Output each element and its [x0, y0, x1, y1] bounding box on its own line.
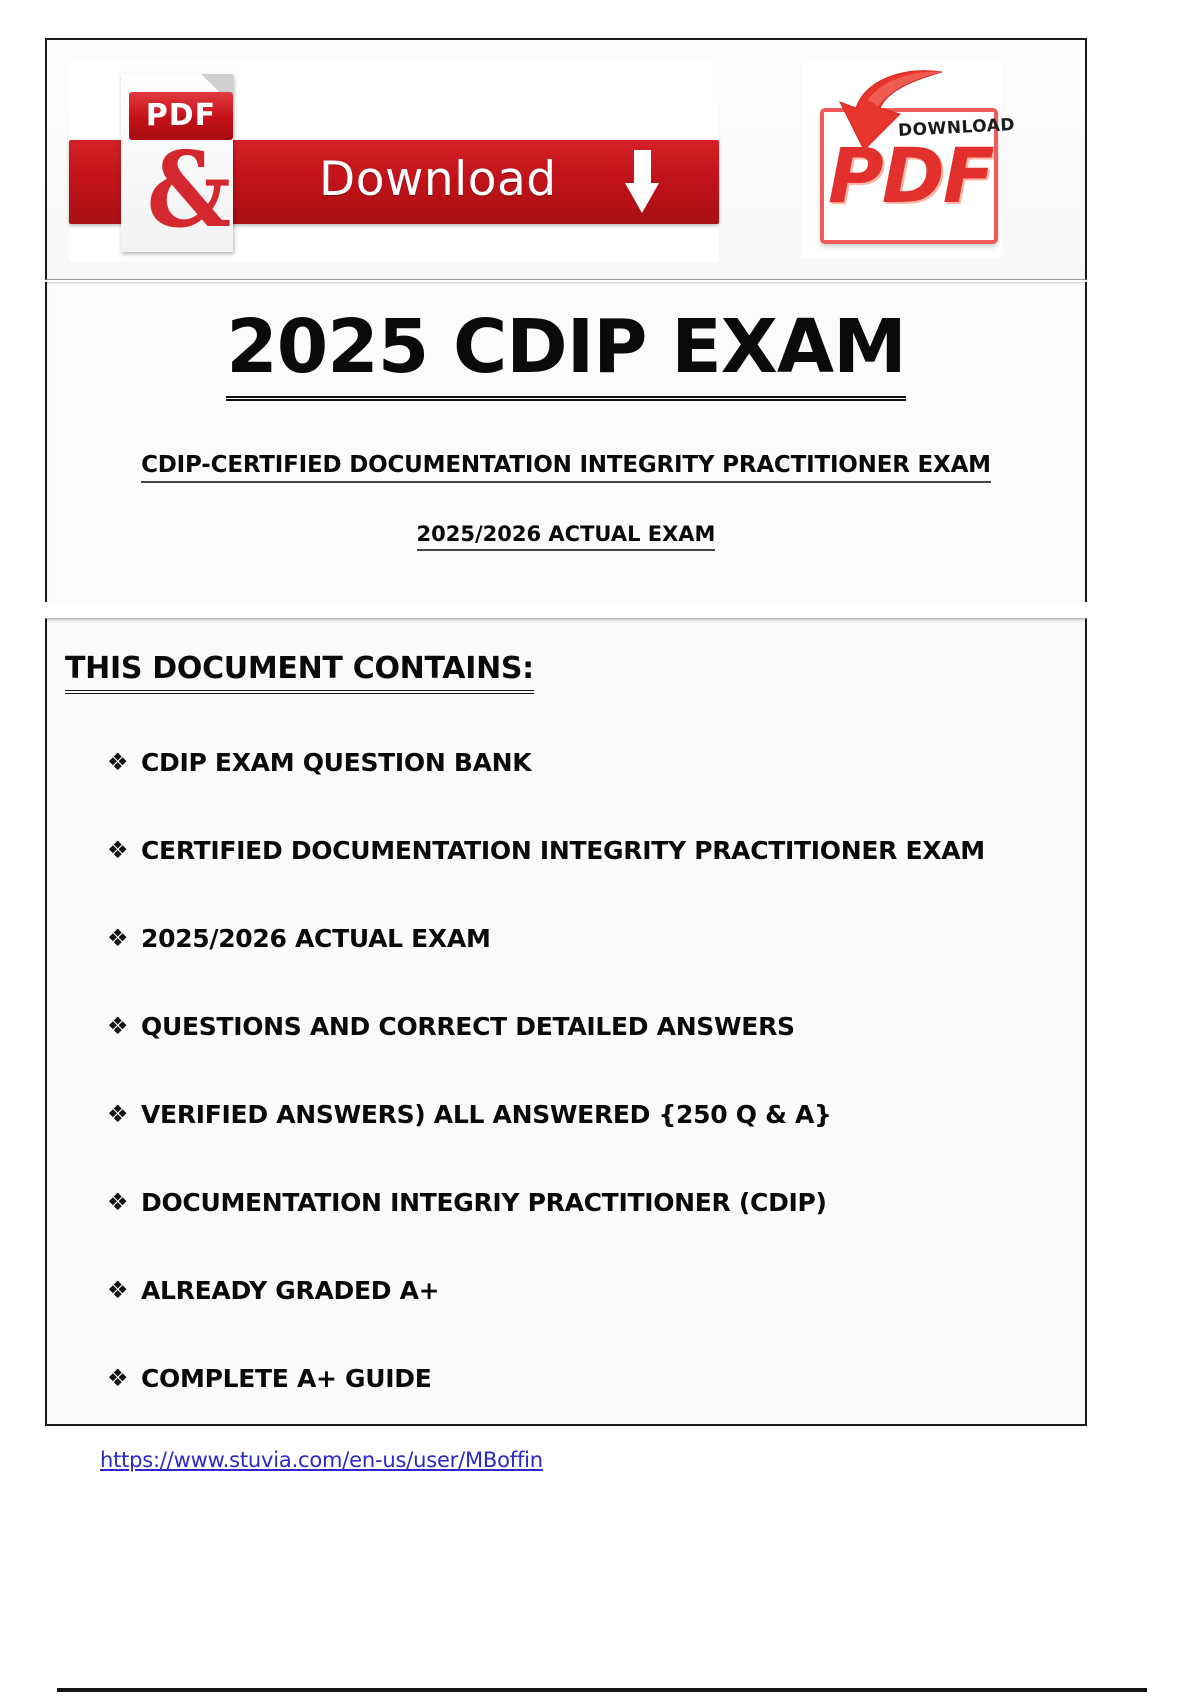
list-item-label: QUESTIONS AND CORRECT DETAILED ANSWERS: [141, 1013, 795, 1040]
list-item: ❖ 2025/2026 ACTUAL EXAM: [107, 925, 1071, 1013]
diamond-bullet-icon: ❖: [107, 1365, 141, 1392]
download-pdf-big-label: PDF: [828, 138, 993, 214]
list-item-label: CERTIFIED DOCUMENTATION INTEGRITY PRACTI…: [141, 837, 985, 864]
list-item: ❖ CDIP EXAM QUESTION BANK: [107, 749, 1071, 837]
diamond-bullet-icon: ❖: [107, 1189, 141, 1216]
diamond-bullet-icon: ❖: [107, 1277, 141, 1304]
download-label: Download: [319, 152, 557, 207]
diamond-bullet-icon: ❖: [107, 837, 141, 864]
diamond-bullet-icon: ❖: [107, 749, 141, 776]
download-arrow-icon: [625, 150, 659, 214]
page-title-text: 2025 CDIP EXAM: [226, 304, 906, 401]
list-item: ❖ VERIFIED ANSWERS) ALL ANSWERED {250 Q …: [107, 1101, 1071, 1189]
contents-list: ❖ CDIP EXAM QUESTION BANK ❖ CERTIFIED DO…: [107, 749, 1071, 1453]
page-bottom-divider: [57, 1688, 1147, 1692]
profile-url-link[interactable]: https://www.stuvia.com/en-us/user/MBoffi…: [100, 1448, 543, 1472]
list-item-label: 2025/2026 ACTUAL EXAM: [141, 925, 491, 952]
list-item: ❖ CERTIFIED DOCUMENTATION INTEGRITY PRAC…: [107, 837, 1071, 925]
list-item-label: COMPLETE A+ GUIDE: [141, 1365, 432, 1392]
banner-inner-surface: Download PDF &: [47, 40, 1085, 279]
contents-card: THIS DOCUMENT CONTAINS: ❖ CDIP EXAM QUES…: [45, 618, 1087, 1426]
download-banner: Download PDF &: [45, 38, 1087, 280]
page-title: 2025 CDIP EXAM: [47, 304, 1085, 390]
list-item: ❖ DOCUMENTATION INTEGRIY PRACTITIONER (C…: [107, 1189, 1071, 1277]
page-subtitle-secondary: 2025/2026 ACTUAL EXAM: [47, 522, 1085, 546]
list-item-label: CDIP EXAM QUESTION BANK: [141, 749, 531, 776]
list-item-label: ALREADY GRADED A+: [141, 1277, 439, 1304]
diamond-bullet-icon: ❖: [107, 925, 141, 952]
diamond-bullet-icon: ❖: [107, 1101, 141, 1128]
page-subtitle-text: CDIP-CERTIFIED DOCUMENTATION INTEGRITY P…: [141, 452, 991, 483]
list-item: ❖ QUESTIONS AND CORRECT DETAILED ANSWERS: [107, 1013, 1071, 1101]
diamond-bullet-icon: ❖: [107, 1013, 141, 1040]
page-subtitle: CDIP-CERTIFIED DOCUMENTATION INTEGRITY P…: [47, 452, 1085, 478]
acrobat-swoosh-icon: &: [147, 138, 215, 242]
contents-heading: THIS DOCUMENT CONTAINS:: [65, 651, 534, 686]
list-item: ❖ COMPLETE A+ GUIDE: [107, 1365, 1071, 1453]
title-card: 2025 CDIP EXAM CDIP-CERTIFIED DOCUMENTAT…: [45, 282, 1087, 602]
download-button-image[interactable]: Download PDF &: [69, 62, 719, 262]
list-item-label: VERIFIED ANSWERS) ALL ANSWERED {250 Q & …: [141, 1101, 832, 1128]
list-item-label: DOCUMENTATION INTEGRIY PRACTITIONER (CDI…: [141, 1189, 827, 1216]
pdf-file-icon: PDF &: [121, 74, 233, 252]
list-item: ❖ ALREADY GRADED A+: [107, 1277, 1071, 1365]
contents-heading-text: THIS DOCUMENT CONTAINS:: [65, 651, 534, 694]
download-pdf-image[interactable]: DOWNLOAD PDF: [802, 62, 1002, 258]
document-page: Download PDF &: [0, 0, 1200, 1700]
page-subtitle-secondary-text: 2025/2026 ACTUAL EXAM: [417, 522, 716, 551]
